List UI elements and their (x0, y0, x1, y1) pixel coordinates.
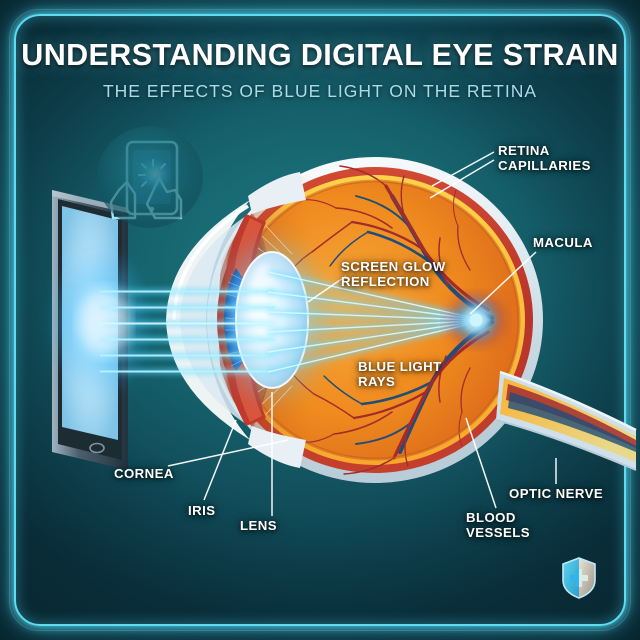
label-retina-capillaries-line2: CAPILLARIES (498, 158, 591, 173)
leader-retina-1 (432, 152, 494, 186)
label-cornea: CORNEA (114, 466, 174, 481)
label-blue-light-line1: BLUE LIGHT (358, 359, 442, 374)
label-optic-nerve: OPTIC NERVE (509, 486, 603, 501)
label-screen-glow-line2: REFLECTION (341, 274, 446, 289)
label-screen-glow-line1: SCREEN GLOW (341, 259, 446, 274)
poster-title: UNDERSTANDING DIGITAL EYE STRAIN (0, 38, 640, 73)
label-blue-light-line2: RAYS (358, 374, 442, 389)
optic-nerve (496, 372, 636, 470)
leader-iris (204, 420, 236, 500)
poster-subtitle: THE EFFECTS OF BLUE LIGHT ON THE RETINA (0, 81, 640, 102)
label-retina-capillaries-line1: RETINA (498, 143, 591, 158)
label-iris: IRIS (188, 503, 215, 518)
label-lens: LENS (240, 518, 277, 533)
infographic-poster: RETINA CAPILLARIES MACULA SCREEN GLOW RE… (0, 0, 640, 640)
label-blood-vessels-line1: BLOOD (466, 510, 530, 525)
label-macula: MACULA (533, 235, 593, 250)
macula-focal-point (446, 294, 506, 346)
label-blue-light-rays: BLUE LIGHT RAYS (358, 359, 442, 390)
tablet-device (48, 190, 152, 470)
hand-holding-tablet-icon (97, 126, 203, 228)
label-screen-glow-reflection: SCREEN GLOW REFLECTION (341, 259, 446, 290)
label-blood-vessels: BLOOD VESSELS (466, 510, 530, 541)
medical-shield-icon (560, 556, 598, 600)
label-blood-vessels-line2: VESSELS (466, 525, 530, 540)
label-retina-capillaries: RETINA CAPILLARIES (498, 143, 591, 174)
poster-header: UNDERSTANDING DIGITAL EYE STRAIN THE EFF… (0, 38, 640, 102)
